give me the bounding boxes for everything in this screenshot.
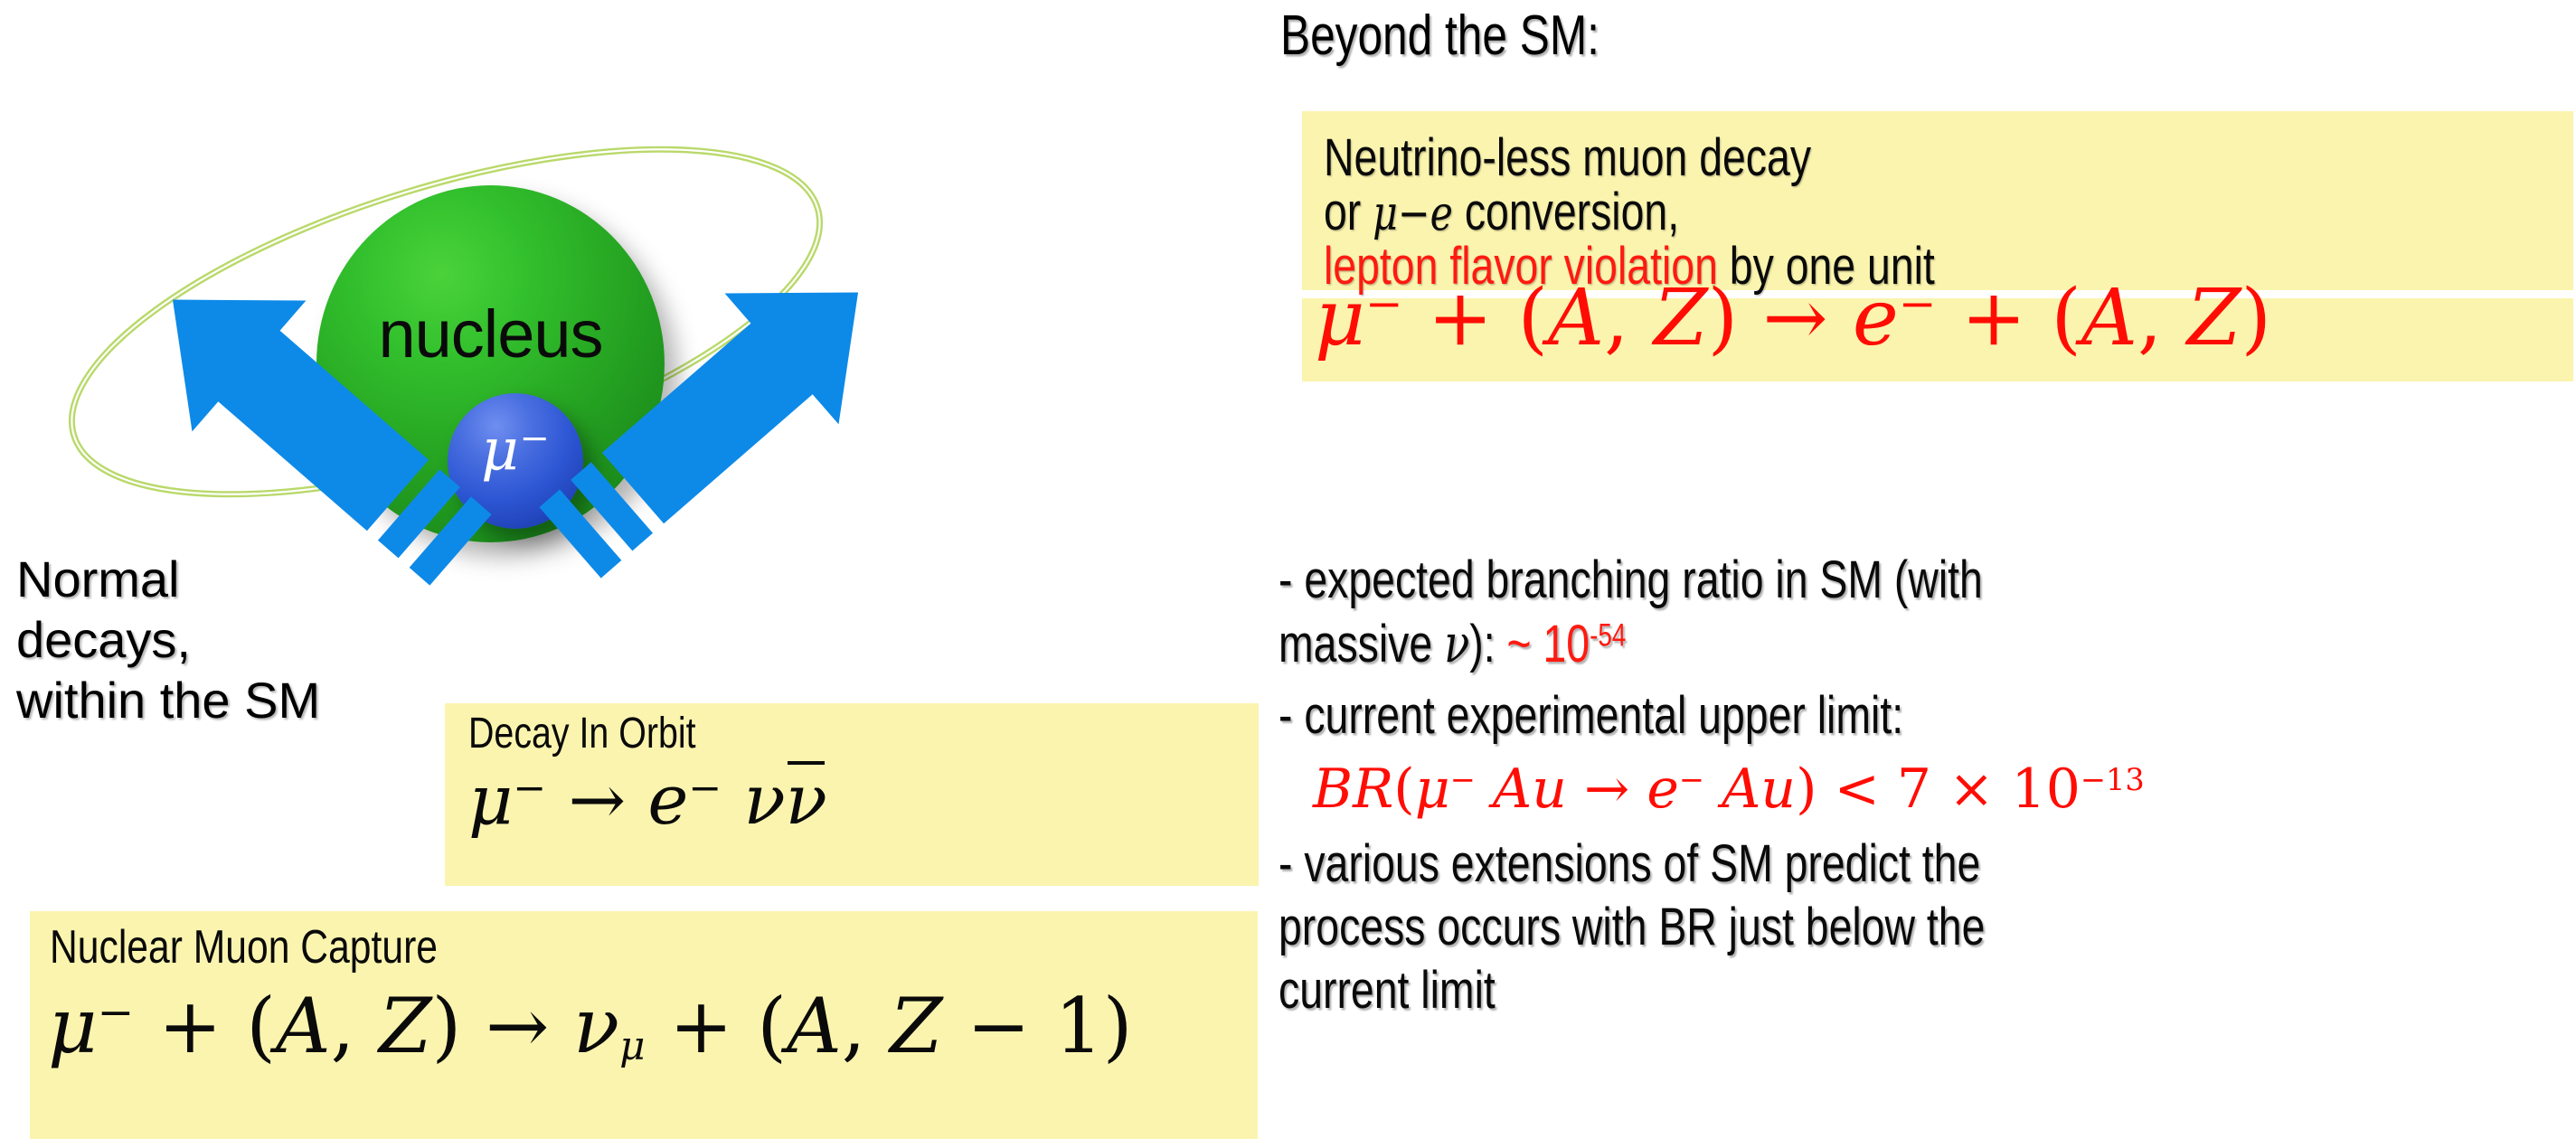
br-sm-exponent: -54 <box>1590 618 1626 654</box>
muon-nucleus-diagram: nucleus μ− Normal decays, within the SM <box>0 0 1266 1148</box>
nmc-arrow: → <box>486 982 549 1070</box>
nmc-mu-charge: − <box>98 988 135 1039</box>
br-Au: Au <box>1493 757 1567 821</box>
normal-decays-label: Normal decays, within the SM <box>16 549 320 731</box>
bullet-expected-br: - expected branching ratio in SM (with <box>1279 550 1983 610</box>
br-Au2: Au <box>1722 757 1796 821</box>
nmc-comma2: , <box>842 982 866 1070</box>
br-exponent: −13 <box>2081 762 2145 797</box>
nmc-A2: A <box>787 982 842 1070</box>
nmc-comma: , <box>331 982 355 1070</box>
bullet-massive-nu: massive ν): ~ 10-54 <box>1279 613 1626 674</box>
nmc-lparen: ( <box>246 982 276 1070</box>
dio-nubar: ν <box>786 759 827 840</box>
dio-arrow: → <box>569 759 627 840</box>
bsm-bullet-list: - expected branching ratio in SM (with m… <box>1266 0 2576 1148</box>
nmc-rparen: ) <box>431 982 461 1070</box>
nmc-plus2: + <box>669 982 732 1070</box>
nmc-nu-sub: μ <box>619 1023 645 1069</box>
nmc-nu: ν <box>573 982 619 1070</box>
decay-in-orbit-title: Decay In Orbit <box>468 709 696 758</box>
nuclear-muon-capture-title: Nuclear Muon Capture <box>50 920 438 974</box>
br-ten: 10 <box>2012 757 2081 821</box>
nuclear-muon-capture-box: Nuclear Muon Capture μ− + (A, Z) → νμ + … <box>30 911 1258 1139</box>
br-rparen: ) <box>1796 757 1816 821</box>
bullet-current-limit: - current experimental upper limit: <box>1279 685 1903 746</box>
br-mu-charge: − <box>1450 762 1476 797</box>
nmc-Z2: Z <box>890 982 942 1070</box>
br-lt: < <box>1835 757 1880 821</box>
nuclear-muon-capture-equation: μ− + (A, Z) → νμ + (A, Z − 1) <box>48 982 1133 1070</box>
b2-prefix: massive <box>1279 615 1444 673</box>
br-seven: 7 <box>1897 757 1931 821</box>
br-arrow: → <box>1584 757 1629 821</box>
dio-e: e <box>647 759 688 840</box>
nmc-minus-one: − 1 <box>967 982 1103 1070</box>
bullet-extensions-3: current limit <box>1279 960 1496 1021</box>
br-upper-limit-equation: BR(μ− Au → e− Au) < 7 × 10−13 <box>1313 757 2145 821</box>
br-e-charge: − <box>1679 762 1704 797</box>
dio-mu: μ <box>468 759 513 840</box>
dio-e-charge: − <box>688 765 722 811</box>
nmc-lparen2: ( <box>757 982 787 1070</box>
br-BR: BR <box>1313 757 1393 821</box>
nmc-plus: + <box>158 982 222 1070</box>
br-mu: μ <box>1415 757 1450 821</box>
br-e: e <box>1647 757 1679 821</box>
br-sm-mantissa: ~ 10 <box>1507 615 1590 673</box>
dio-nu: ν <box>743 759 785 840</box>
br-times: × <box>1949 757 1994 821</box>
neutrino-symbol: ν <box>1444 613 1469 674</box>
slide-canvas: nucleus μ− Normal decays, within the SM <box>0 0 2576 1148</box>
dio-nubar-sym: ν <box>786 759 827 840</box>
decay-in-orbit-equation: μ− → e− νν <box>468 759 827 840</box>
br-sm-value: ~ 10-54 <box>1507 615 1627 673</box>
nmc-Z: Z <box>379 982 431 1070</box>
dio-mu-charge: − <box>513 765 546 811</box>
nmc-mu: μ <box>48 982 98 1070</box>
b2-suffix: ): <box>1469 615 1506 673</box>
nuclear-capture-arrow <box>514 227 915 608</box>
nmc-rparen2: ) <box>1103 982 1133 1070</box>
bullet-extensions-2: process occurs with BR just below the <box>1279 897 1985 957</box>
nmc-A: A <box>276 982 331 1070</box>
bullet-extensions-1: - various extensions of SM predict the <box>1279 833 1980 894</box>
br-lparen: ( <box>1393 757 1414 821</box>
decay-in-orbit-box: Decay In Orbit μ− → e− νν <box>445 703 1259 886</box>
